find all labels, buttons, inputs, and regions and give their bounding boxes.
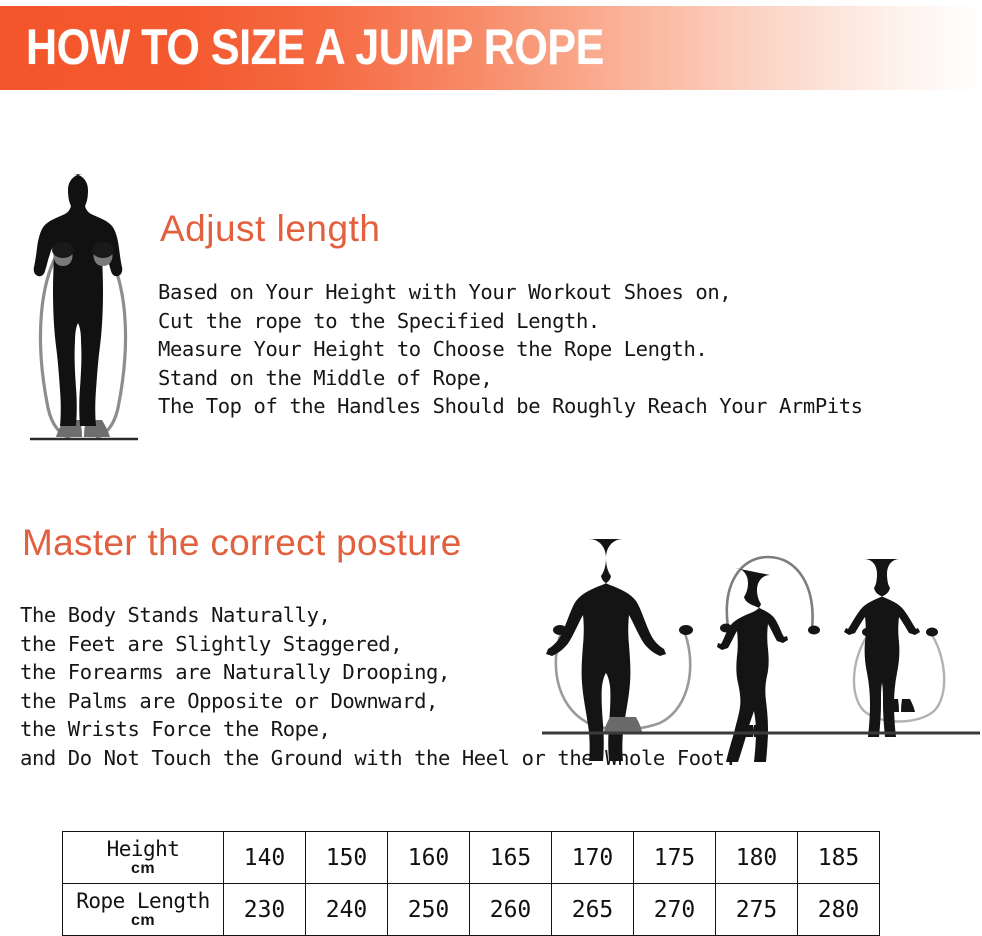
section-heading-adjust-length: Adjust length: [160, 208, 380, 250]
table-cell: 180: [716, 832, 798, 884]
jumper-figure-mid-jump: [717, 557, 820, 762]
section-body-adjust-length: Based on Your Height with Your Workout S…: [158, 278, 863, 421]
hand-left: [52, 242, 74, 258]
row-unit: cm: [63, 913, 223, 929]
header-banner: HOW TO SIZE A JUMP ROPE: [0, 6, 982, 90]
section-adjust-length: Adjust length Based on Your Height with …: [0, 160, 982, 450]
row-header-height: Height cm: [63, 832, 224, 884]
table-cell: 160: [388, 832, 470, 884]
body-line: The Top of the Handles Should be Roughly…: [158, 392, 863, 421]
table-cell: 140: [224, 832, 306, 884]
table-cell: 280: [798, 884, 880, 936]
body-line: Stand on the Middle of Rope,: [158, 364, 863, 393]
standing-figure-svg: [18, 168, 148, 443]
table-cell: 150: [306, 832, 388, 884]
table-row-rope-length: Rope Length cm 230 240 250 260 265 270 2…: [63, 884, 880, 936]
row-label: Height: [63, 839, 223, 860]
section-correct-posture: Master the correct posture The Body Stan…: [0, 505, 982, 795]
page-title: HOW TO SIZE A JUMP ROPE: [26, 16, 604, 78]
figure-person-standing-on-rope: [18, 168, 148, 443]
table-cell: 240: [306, 884, 388, 936]
table-row-height: Height cm 140 150 160 165 170 175 180 18…: [63, 832, 880, 884]
hand-right: [92, 242, 114, 258]
body-line: and Do Not Touch the Ground with the Hee…: [20, 744, 737, 773]
table-cell: 165: [470, 832, 552, 884]
section-heading-correct-posture: Master the correct posture: [22, 522, 462, 564]
table-cell: 230: [224, 884, 306, 936]
size-chart-table: Height cm 140 150 160 165 170 175 180 18…: [62, 831, 880, 936]
table-cell: 275: [716, 884, 798, 936]
row-header-rope-length: Rope Length cm: [63, 884, 224, 936]
table-cell: 250: [388, 884, 470, 936]
jumper-figure-standing: [546, 539, 693, 761]
table-cell: 175: [634, 832, 716, 884]
body-silhouette: [34, 174, 123, 426]
table-cell: 260: [470, 884, 552, 936]
shoe-right: [620, 717, 642, 732]
hand-left: [862, 628, 874, 637]
table-cell: 270: [634, 884, 716, 936]
table-cell: 170: [552, 832, 634, 884]
figure-group-three-jumpers: [540, 535, 982, 745]
body-line: Cut the rope to the Specified Length.: [158, 307, 863, 336]
hand-left: [720, 624, 732, 633]
row-label: Rope Length: [63, 891, 223, 912]
hand-right: [926, 628, 938, 637]
hand-right: [808, 626, 820, 635]
row-unit: cm: [63, 861, 223, 877]
three-jumpers-svg: [540, 535, 982, 745]
hand-right: [679, 625, 693, 635]
hand-left: [553, 625, 567, 635]
table-cell: 265: [552, 884, 634, 936]
body-line: Based on Your Height with Your Workout S…: [158, 278, 863, 307]
shoe-right: [901, 699, 915, 712]
jumper-figure-small: [844, 559, 944, 737]
body-line: Measure Your Height to Choose the Rope L…: [158, 335, 863, 364]
table-cell: 185: [798, 832, 880, 884]
